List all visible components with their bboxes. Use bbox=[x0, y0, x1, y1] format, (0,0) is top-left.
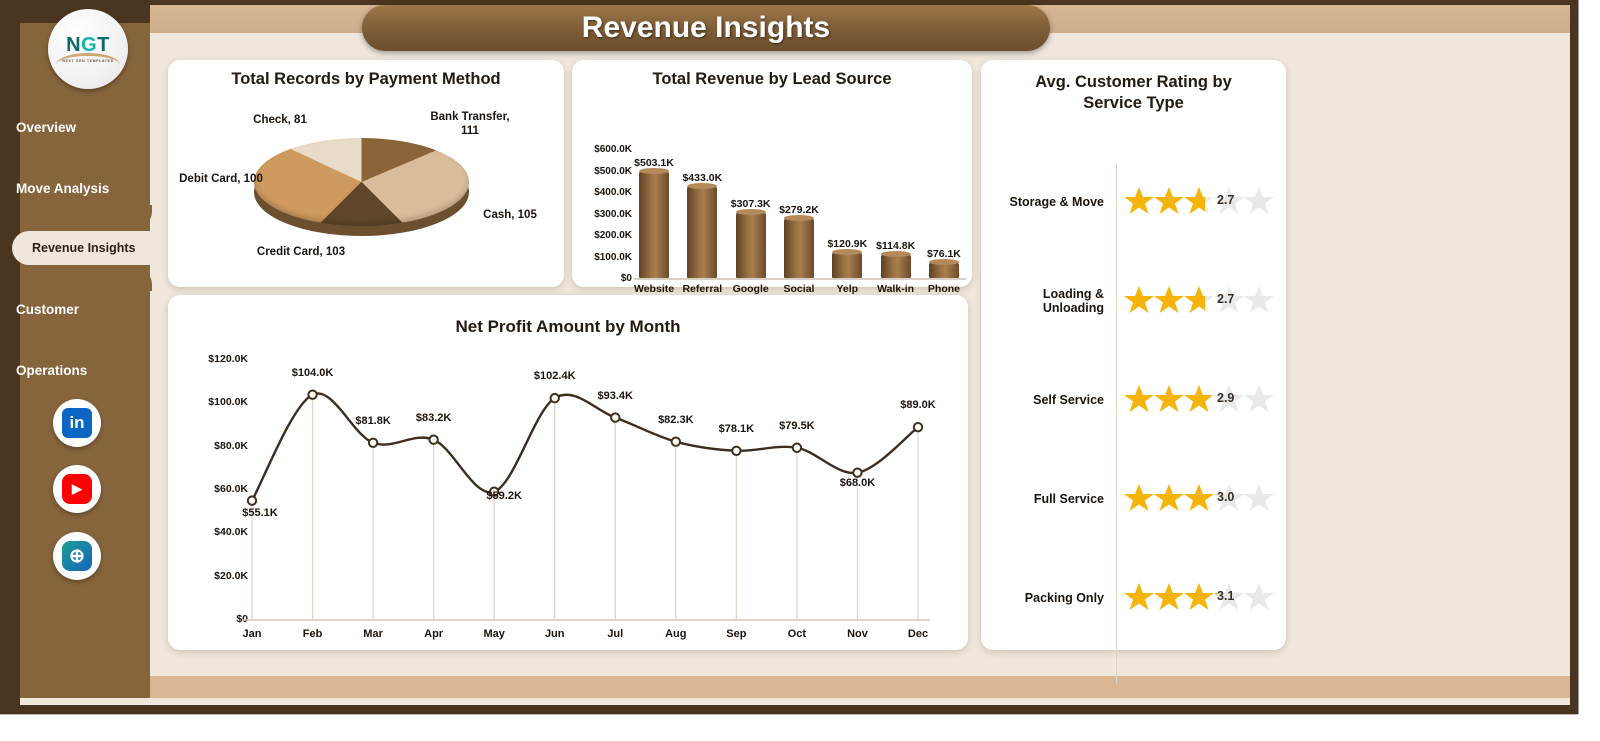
line-data-point bbox=[732, 447, 740, 455]
rating-row: Packing Only3.1 bbox=[981, 568, 1286, 628]
horizontal-scrollbar[interactable] bbox=[0, 714, 1578, 734]
line-value-label: $102.4K bbox=[527, 370, 583, 382]
rating-row: Storage & Move2.7 bbox=[981, 172, 1286, 232]
bar-column[interactable]: $433.0K bbox=[682, 150, 722, 278]
line-chart-title: Net Profit Amount by Month bbox=[168, 295, 968, 337]
rating-value-label: 3.0 bbox=[1217, 490, 1234, 504]
website-glyph: ⊕ bbox=[62, 541, 92, 571]
line-value-label: $89.0K bbox=[890, 399, 946, 411]
bar-body bbox=[736, 212, 766, 278]
line-category-label: Aug bbox=[653, 628, 699, 640]
line-data-point bbox=[611, 413, 619, 421]
line-value-label: $83.2K bbox=[406, 412, 462, 424]
right-margin bbox=[1578, 0, 1600, 714]
bar-y-tick: $0 bbox=[576, 273, 632, 284]
bar-chart-baseline bbox=[634, 278, 966, 280]
sidebar-item-overview[interactable]: Overview bbox=[0, 110, 130, 144]
pie-label-debit-card: Debit Card, 100 bbox=[176, 172, 266, 186]
line-category-label: May bbox=[471, 628, 517, 640]
line-category-label: Sep bbox=[713, 628, 759, 640]
rating-stars: 3.0 bbox=[1124, 482, 1274, 516]
rating-stars: 2.9 bbox=[1124, 383, 1274, 417]
line-category-label: Oct bbox=[774, 628, 820, 640]
pie-label-credit-card: Credit Card, 103 bbox=[246, 245, 356, 259]
line-category-label: Mar bbox=[350, 628, 396, 640]
bar-value-label: $76.1K bbox=[927, 248, 961, 260]
line-y-tick: $0 bbox=[178, 613, 248, 625]
pie-label-bank-transfer: Bank Transfer, 111 bbox=[420, 110, 520, 139]
linkedin-icon[interactable]: in bbox=[53, 399, 101, 447]
line-y-tick: $60.0K bbox=[178, 483, 248, 495]
line-y-tick: $80.0K bbox=[178, 440, 248, 452]
line-value-label: $79.5K bbox=[769, 420, 825, 432]
line-value-label: $68.0K bbox=[829, 477, 885, 489]
line-category-label: Feb bbox=[290, 628, 336, 640]
bar-column[interactable]: $120.9K bbox=[827, 150, 867, 278]
sidebar-item-label: Move Analysis bbox=[16, 181, 109, 196]
bar-body bbox=[784, 218, 814, 278]
bar-value-label: $433.0K bbox=[682, 172, 722, 184]
sidebar-item-revenue-insights[interactable]: Revenue Insights bbox=[12, 231, 148, 265]
bar-chart-card: Total Revenue by Lead Source $600.0K$500… bbox=[572, 60, 972, 287]
rating-value-label: 2.9 bbox=[1217, 391, 1234, 405]
logo-letter-t: T bbox=[97, 34, 110, 56]
bar-value-label: $114.8K bbox=[876, 240, 915, 252]
line-value-label: $81.8K bbox=[345, 415, 401, 427]
bar-body bbox=[832, 252, 862, 278]
rating-chart-card: Avg. Customer Rating by Service Type Sto… bbox=[981, 60, 1286, 650]
rating-category-label: Full Service bbox=[981, 492, 1116, 506]
rating-value-label: 2.7 bbox=[1217, 193, 1234, 207]
sidebar-item-label: Customer bbox=[16, 302, 79, 317]
pie-label-check: Check, 81 bbox=[230, 113, 330, 127]
line-data-point bbox=[853, 468, 861, 476]
rating-value-label: 2.7 bbox=[1217, 292, 1234, 306]
line-category-label: Nov bbox=[834, 628, 880, 640]
line-y-tick: $100.0K bbox=[178, 396, 248, 408]
bar-y-tick: $400.0K bbox=[576, 187, 632, 198]
page-title-text: Revenue Insights bbox=[582, 11, 830, 45]
bar-y-tick: $600.0K bbox=[576, 144, 632, 155]
line-data-point bbox=[308, 390, 316, 398]
bar-value-label: $503.1K bbox=[634, 157, 674, 169]
line-series-path bbox=[252, 393, 918, 500]
line-chart-card: Net Profit Amount by Month $120.0K$100.0… bbox=[168, 295, 968, 650]
sidebar-item-operations[interactable]: Operations bbox=[0, 353, 130, 387]
pie-top-face bbox=[254, 138, 469, 226]
rating-row: Full Service3.0 bbox=[981, 469, 1286, 529]
line-value-label: $104.0K bbox=[285, 367, 341, 379]
bar-y-tick: $100.0K bbox=[576, 252, 632, 263]
rating-stars: 2.7 bbox=[1124, 185, 1274, 219]
line-category-label: Jun bbox=[532, 628, 578, 640]
bar-column[interactable]: $307.3K bbox=[731, 150, 771, 278]
bar-chart-title: Total Revenue by Lead Source bbox=[572, 60, 972, 89]
website-icon[interactable]: ⊕ bbox=[53, 532, 101, 580]
bar-column[interactable]: $503.1K bbox=[634, 150, 674, 278]
line-category-label: Jul bbox=[592, 628, 638, 640]
bar-body bbox=[929, 262, 959, 278]
line-value-label: $59.2K bbox=[476, 490, 532, 502]
line-data-point bbox=[248, 496, 256, 504]
line-category-label: Apr bbox=[411, 628, 457, 640]
pie-chart-card: Total Records by Payment Method Bank Tra… bbox=[168, 60, 564, 287]
bar-y-tick: $300.0K bbox=[576, 209, 632, 220]
line-data-point bbox=[672, 437, 680, 445]
bar-column[interactable]: $279.2K bbox=[779, 150, 819, 278]
youtube-glyph: ▶ bbox=[62, 474, 92, 504]
youtube-icon[interactable]: ▶ bbox=[53, 465, 101, 513]
rating-row: Self Service2.9 bbox=[981, 370, 1286, 430]
line-data-point bbox=[793, 444, 801, 452]
line-data-point bbox=[551, 394, 559, 402]
sidebar-item-label: Revenue Insights bbox=[32, 241, 136, 255]
rating-stars: 3.1 bbox=[1124, 581, 1274, 615]
ngt-logo: NGT NEXT GEN TEMPLATES bbox=[48, 9, 128, 89]
rating-category-label: Storage & Move bbox=[981, 195, 1116, 209]
linkedin-glyph: in bbox=[62, 408, 92, 438]
rating-category-label: Loading & Unloading bbox=[981, 287, 1116, 315]
bar-body bbox=[687, 186, 717, 278]
line-y-tick: $20.0K bbox=[178, 570, 248, 582]
rating-category-label: Packing Only bbox=[981, 591, 1116, 605]
bar-y-tick: $500.0K bbox=[576, 166, 632, 177]
bar-chart-bars: $503.1K$433.0K$307.3K$279.2K$120.9K$114.… bbox=[634, 150, 964, 278]
rating-stars: 2.7 bbox=[1124, 284, 1274, 318]
line-category-label: Jan bbox=[229, 628, 275, 640]
pie-chart-graphic bbox=[254, 138, 469, 238]
line-value-label: $78.1K bbox=[708, 423, 764, 435]
sidebar-item-label: Overview bbox=[16, 120, 76, 135]
line-data-point bbox=[369, 439, 377, 447]
line-y-tick: $40.0K bbox=[178, 526, 248, 538]
sidebar-item-move-analysis[interactable]: Move Analysis bbox=[0, 171, 130, 205]
line-category-label: Dec bbox=[895, 628, 941, 640]
line-value-label: $93.4K bbox=[587, 390, 643, 402]
sidebar-item-customer[interactable]: Customer bbox=[0, 292, 130, 326]
line-chart-graphic bbox=[168, 295, 968, 650]
rating-category-label: Self Service bbox=[981, 393, 1116, 407]
line-y-tick: $120.0K bbox=[178, 353, 248, 365]
line-value-label: $55.1K bbox=[232, 507, 288, 519]
sidebar-bottom-cap bbox=[20, 630, 150, 698]
line-data-point bbox=[914, 423, 922, 431]
dashboard-root: NGT NEXT GEN TEMPLATES Overview Move Ana… bbox=[0, 0, 1600, 741]
pie-label-cash: Cash, 105 bbox=[460, 208, 560, 222]
bottom-accent-strip bbox=[150, 676, 1570, 698]
bar-body bbox=[881, 254, 911, 278]
bar-column[interactable]: $114.8K bbox=[876, 150, 916, 278]
sidebar-item-label: Operations bbox=[16, 363, 87, 378]
line-value-label: $82.3K bbox=[648, 414, 704, 426]
pie-chart-title: Total Records by Payment Method bbox=[168, 60, 564, 89]
sidebar bbox=[20, 5, 150, 698]
bar-column[interactable]: $76.1K bbox=[924, 150, 964, 278]
bar-y-tick: $200.0K bbox=[576, 230, 632, 241]
bar-body bbox=[639, 171, 669, 278]
rating-value-label: 3.1 bbox=[1217, 589, 1234, 603]
line-data-point bbox=[429, 436, 437, 444]
rating-row: Loading & Unloading2.7 bbox=[981, 271, 1286, 331]
rating-chart-title: Avg. Customer Rating by Service Type bbox=[981, 60, 1286, 113]
page-title: Revenue Insights bbox=[362, 5, 1050, 51]
